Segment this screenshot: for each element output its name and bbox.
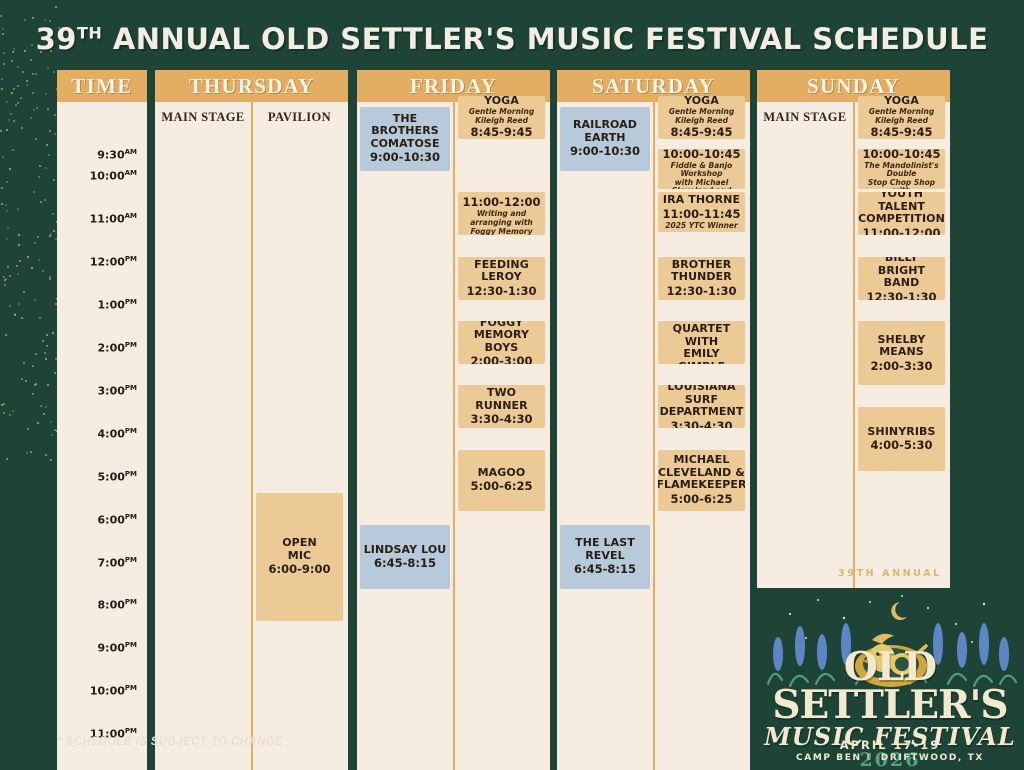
event-block[interactable]: MAGOO5:00-6:25 — [458, 450, 545, 511]
event-name: THE LASTREVEL — [575, 537, 635, 562]
event-time: 10:00-10:45 — [663, 149, 741, 160]
event-time: 3:30-4:30 — [671, 420, 733, 429]
time-label: 9:30AM — [97, 148, 137, 162]
day-body-friday: MAIN STAGELINDSAY LOU6:45-8:15THE BROTHE… — [357, 102, 550, 770]
event-name: FOGGY MEMORYBOYS — [461, 321, 542, 354]
time-column: TIME 9:30AM10:00AM11:00AM12:00PM1:00PM2:… — [57, 70, 147, 770]
event-time: 8:45-9:45 — [471, 126, 533, 138]
event-block[interactable]: YOGAGentle MorningKileigh Reed8:45-9:45 — [658, 96, 745, 139]
event-time: 4:00-5:30 — [871, 439, 933, 452]
event-description: The Mandolinist's DoubleStop Chop Shop w… — [861, 162, 942, 190]
event-name: FEEDING LEROY — [461, 259, 542, 284]
logo-kicker: 39TH ANNUAL — [756, 568, 1024, 579]
logo-line1: OLD SETTLER'S — [756, 648, 1024, 724]
event-block[interactable]: YOGAGentle MorningKileigh Reed8:45-9:45 — [458, 96, 545, 139]
stage-track: THE LASTREVEL6:45-8:15RAILROADEARTH9:00-… — [557, 128, 653, 770]
event-time: 11:00-11:45 — [663, 208, 741, 221]
event-name: SHELBYMEANS — [878, 334, 926, 359]
event-block[interactable]: WARREN HOODQUARTET WITHEMILY GIMBLE2:00-… — [658, 321, 745, 364]
event-description: Fiddle & Banjo Workshopwith Michael Clev… — [661, 162, 742, 190]
stage-track: LINDSAY LOU6:45-8:15THE BROTHERSCOMATOSE… — [357, 128, 453, 770]
event-time: 2:00-3:00 — [471, 355, 533, 364]
event-block[interactable]: YOUTH TALENTCOMPETITION11:00-12:00 — [858, 192, 945, 235]
time-label: 12:00PM — [90, 255, 137, 269]
logo-place: CAMP BEN ☾ DRIFTWOOD, TX — [756, 753, 1024, 763]
event-block[interactable]: YOGAGentle MorningKileigh Reed8:45-9:45 — [858, 96, 945, 139]
event-time: 12:30-1:30 — [667, 285, 737, 298]
stage-column-friday-main: MAIN STAGELINDSAY LOU6:45-8:15THE BROTHE… — [357, 102, 453, 770]
stage-column-saturday-pavilion: PAVILIONYOGAGentle MorningKileigh Reed8:… — [653, 102, 748, 770]
event-name: BILLY BRIGHTBAND — [861, 257, 942, 290]
event-subtitle: Gentle MorningKileigh Reed — [469, 108, 534, 125]
time-label: 2:00PM — [98, 341, 137, 355]
stage-track: YOGAGentle MorningKileigh Reed8:45-9:45W… — [455, 128, 548, 770]
event-description: 2025 YTC Winner — [665, 222, 737, 231]
stage-column-saturday-main: MAIN STAGETHE LASTREVEL6:45-8:15RAILROAD… — [557, 102, 653, 770]
event-time: 2:00-3:30 — [871, 360, 933, 373]
event-name: TWO RUNNER — [461, 387, 542, 412]
event-block[interactable]: WORKSHOP10:00-10:45Fiddle & Banjo Worksh… — [658, 149, 745, 189]
time-label: 10:00PM — [90, 684, 137, 698]
time-label: 5:00PM — [98, 470, 137, 484]
title-text: ANNUAL OLD SETTLER'S MUSIC FESTIVAL SCHE… — [102, 22, 988, 56]
event-block[interactable]: THE LASTREVEL6:45-8:15 — [560, 525, 650, 589]
stage-header-pavilion: PAVILION — [253, 102, 346, 128]
event-name: MICHAELCLEVELAND &FLAMEKEEPER — [658, 454, 745, 492]
time-label: 9:00PM — [98, 641, 137, 655]
stage-column-friday-pavilion: PAVILIONYOGAGentle MorningKileigh Reed8:… — [453, 102, 548, 770]
day-header-thursday: THURSDAY — [155, 70, 348, 102]
event-time: 11:00-12:00 — [863, 227, 941, 236]
event-name: SHINYRIBS — [867, 426, 935, 439]
event-name: RAILROADEARTH — [573, 119, 637, 144]
time-label: 4:00PM — [98, 427, 137, 441]
moon-icon — [891, 602, 907, 620]
event-name: YOGA — [884, 96, 919, 108]
event-name: LOUISIANASURFDEPARTMENT — [660, 385, 744, 418]
stage-track: YOGAGentle MorningKileigh Reed8:45-9:45W… — [655, 128, 748, 770]
day-column-thursday: THURSDAYMAIN STAGEPAVILIONOPENMIC6:00-9:… — [155, 70, 348, 770]
time-label: 11:00AM — [90, 212, 137, 226]
event-subtitle: Gentle MorningKileigh Reed — [669, 108, 734, 125]
event-name: MAGOO — [478, 467, 526, 480]
stage-column-sunday-pavilion: PAVILIONYOGAGentle MorningKileigh Reed8:… — [853, 102, 948, 588]
event-time: 10:00-10:45 — [863, 149, 941, 160]
event-block[interactable]: IRA THORNE11:00-11:452025 YTC Winner — [658, 192, 745, 232]
event-block[interactable]: OPENMIC6:00-9:00 — [256, 493, 343, 622]
event-time: 8:45-9:45 — [871, 126, 933, 138]
logo-date: APRIL 17-19 — [756, 738, 1024, 752]
event-time: 3:30-4:30 — [471, 413, 533, 426]
event-block[interactable]: MICHAELCLEVELAND &FLAMEKEEPER5:00-6:25 — [658, 450, 745, 511]
schedule-poster: 39TH ANNUAL OLD SETTLER'S MUSIC FESTIVAL… — [0, 0, 1024, 770]
event-block[interactable]: BILLY BRIGHTBAND12:30-1:30 — [858, 257, 945, 300]
festival-logo: 39TH ANNUAL — [756, 560, 1024, 770]
time-label: 10:00AM — [90, 169, 137, 183]
event-time: 6:00-9:00 — [269, 563, 331, 576]
stage-track — [155, 128, 251, 770]
event-name: BROTHERTHUNDER — [671, 259, 732, 284]
event-name: THE BROTHERSCOMATOSE — [363, 113, 447, 151]
event-block[interactable]: SHELBYMEANS2:00-3:30 — [858, 321, 945, 385]
event-time: 12:30-1:30 — [467, 285, 537, 298]
time-column-header: TIME — [57, 70, 147, 102]
event-name: WARREN HOODQUARTET WITHEMILY GIMBLE — [661, 321, 742, 364]
event-name: OPENMIC — [282, 537, 317, 562]
page-title: 39TH ANNUAL OLD SETTLER'S MUSIC FESTIVAL… — [0, 22, 1024, 56]
time-label: 1:00PM — [98, 298, 137, 312]
stage-header-main: MAIN STAGE — [155, 102, 251, 128]
event-time: 9:00-10:30 — [370, 151, 440, 164]
title-ordinal: 39 — [36, 22, 77, 56]
time-label: 3:00PM — [98, 384, 137, 398]
event-time: 11:00-12:00 — [463, 196, 541, 209]
event-subtitle: Gentle MorningKileigh Reed — [869, 108, 934, 125]
event-block[interactable]: TWO RUNNER3:30-4:30 — [458, 385, 545, 428]
stage-column-sunday-main: MAIN STAGE — [757, 102, 853, 588]
day-body-sunday: MAIN STAGEPAVILIONYOGAGentle MorningKile… — [757, 102, 950, 588]
day-body-saturday: MAIN STAGETHE LASTREVEL6:45-8:15RAILROAD… — [557, 102, 750, 770]
time-label: 7:00PM — [98, 556, 137, 570]
event-time: 5:00-6:25 — [471, 480, 533, 493]
stage-track — [757, 128, 853, 588]
event-time: 8:45-9:45 — [671, 126, 733, 138]
day-column-friday: FRIDAYMAIN STAGELINDSAY LOU6:45-8:15THE … — [357, 70, 550, 770]
event-time: 5:00-6:25 — [671, 493, 733, 506]
event-name: YOGA — [484, 96, 519, 108]
event-block[interactable]: WORKSHOP11:00-12:00Writing and arranging… — [458, 192, 545, 235]
event-name: LINDSAY LOU — [364, 544, 447, 557]
time-label: 8:00PM — [98, 598, 137, 612]
event-block[interactable]: BROTHERTHUNDER12:30-1:30 — [658, 257, 745, 300]
event-name: YOUTH TALENTCOMPETITION — [858, 192, 945, 225]
event-block[interactable]: WORKSHOP10:00-10:45The Mandolinist's Dou… — [858, 149, 945, 189]
stage-column-thursday-pavilion: PAVILIONOPENMIC6:00-9:00 — [251, 102, 346, 770]
title-ordinal-suffix: TH — [77, 23, 102, 42]
stage-column-thursday-main: MAIN STAGE — [155, 102, 251, 770]
day-body-thursday: MAIN STAGEPAVILIONOPENMIC6:00-9:00 — [155, 102, 348, 770]
stage-track: OPENMIC6:00-9:00 — [253, 128, 346, 770]
event-time: 6:45-8:15 — [574, 563, 636, 576]
day-column-sunday: SUNDAYMAIN STAGEPAVILIONYOGAGentle Morni… — [757, 70, 950, 588]
event-block[interactable]: THE BROTHERSCOMATOSE9:00-10:30 — [360, 107, 450, 171]
event-time: 12:30-1:30 — [867, 291, 937, 300]
event-block[interactable]: LOUISIANASURFDEPARTMENT3:30-4:30 — [658, 385, 745, 428]
time-column-body: 9:30AM10:00AM11:00AM12:00PM1:00PM2:00PM3… — [57, 102, 147, 770]
event-description: Writing and arranging withFoggy Memory B… — [461, 210, 542, 235]
event-block[interactable]: LINDSAY LOU6:45-8:15 — [360, 525, 450, 589]
event-block[interactable]: RAILROADEARTH9:00-10:30 — [560, 107, 650, 171]
stage-header-main: MAIN STAGE — [757, 102, 853, 128]
day-column-saturday: SATURDAYMAIN STAGETHE LASTREVEL6:45-8:15… — [557, 70, 750, 770]
event-block[interactable]: FEEDING LEROY12:30-1:30 — [458, 257, 545, 300]
event-block[interactable]: SHINYRIBS4:00-5:30 — [858, 407, 945, 471]
event-name: IRA THORNE — [663, 194, 740, 207]
event-block[interactable]: FOGGY MEMORYBOYS2:00-3:00 — [458, 321, 545, 364]
event-name: YOGA — [684, 96, 719, 108]
event-time: 9:00-10:30 — [570, 145, 640, 158]
stage-track: YOGAGentle MorningKileigh Reed8:45-9:45W… — [855, 128, 948, 588]
footnote: * SCHEDULE IS SUBJECT TO CHANGE — [57, 736, 283, 748]
event-time: 6:45-8:15 — [374, 557, 436, 570]
time-label: 6:00PM — [98, 513, 137, 527]
